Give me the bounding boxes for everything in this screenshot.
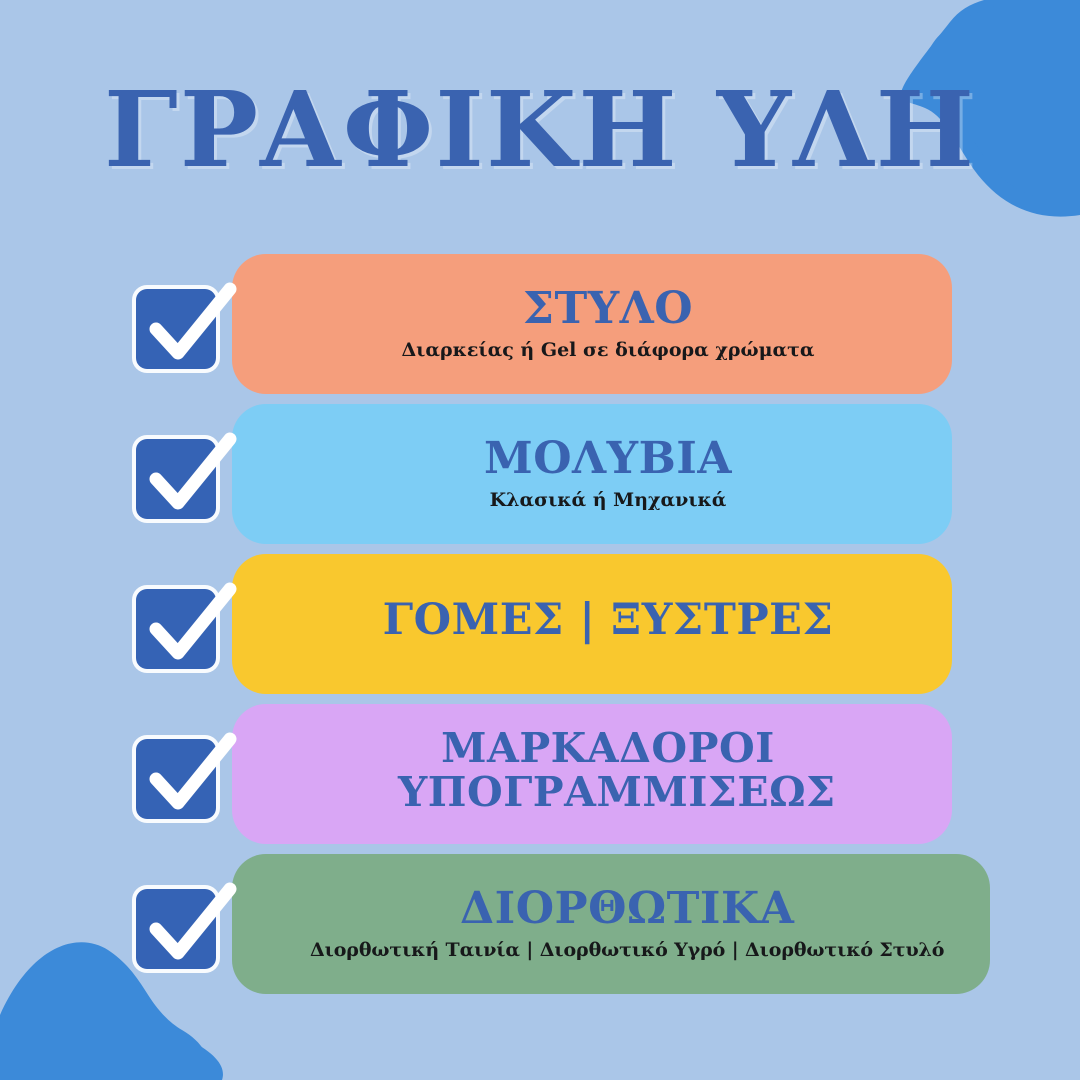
item-card-0[interactable]: ΣΤΥΛΟ Διαρκείας ή Gel σε διάφορα χρώματα — [240, 262, 944, 386]
checkbox-1[interactable] — [136, 433, 218, 515]
item-title: ΔΙΟΡΘΩΤΙΚΑ — [460, 887, 794, 932]
checkmark-icon — [134, 267, 246, 379]
item-subtitle: Κλασικά ή Μηχανικά — [490, 489, 727, 512]
item-card-1[interactable]: ΜΟΛΥΒΙΑ Κλασικά ή Μηχανικά — [240, 412, 944, 536]
page-title: ΓΡΑΦΙΚΗ ΥΛΗ — [0, 78, 1080, 182]
checkmark-icon — [134, 417, 246, 529]
checkbox-0[interactable] — [136, 283, 218, 365]
item-title: ΜΑΡΚΑΔΟΡΟΙ ΥΠΟΓΡΑΜΜΙΣΕΩΣ — [398, 727, 818, 815]
list-item[interactable]: ΣΤΥΛΟ Διαρκείας ή Gel σε διάφορα χρώματα — [0, 249, 1080, 399]
list-item[interactable]: ΔΙΟΡΘΩΤΙΚΑ Διορθωτική Ταινία | Διορθωτικ… — [0, 849, 1080, 999]
page-title-container: ΓΡΑΦΙΚΗ ΥΛΗ — [0, 78, 1080, 182]
checklist: ΣΤΥΛΟ Διαρκείας ή Gel σε διάφορα χρώματα… — [0, 249, 1080, 999]
checkmark-icon — [134, 567, 246, 679]
item-card-2[interactable]: ΓΟΜΕΣ | ΞΥΣΤΡΕΣ — [240, 562, 944, 686]
checkmark-icon — [134, 867, 246, 979]
item-card-3[interactable]: ΜΑΡΚΑΔΟΡΟΙ ΥΠΟΓΡΑΜΜΙΣΕΩΣ — [240, 712, 944, 836]
item-card-4[interactable]: ΔΙΟΡΘΩΤΙΚΑ Διορθωτική Ταινία | Διορθωτικ… — [240, 862, 982, 986]
list-item[interactable]: ΜΟΛΥΒΙΑ Κλασικά ή Μηχανικά — [0, 399, 1080, 549]
checkmark-icon — [134, 717, 246, 829]
list-item[interactable]: ΜΑΡΚΑΔΟΡΟΙ ΥΠΟΓΡΑΜΜΙΣΕΩΣ — [0, 699, 1080, 849]
item-title: ΣΤΥΛΟ — [523, 287, 693, 332]
checkbox-3[interactable] — [136, 733, 218, 815]
item-subtitle: Διαρκείας ή Gel σε διάφορα χρώματα — [401, 339, 814, 362]
item-title: ΓΟΜΕΣ | ΞΥΣΤΡΕΣ — [383, 599, 834, 643]
list-item[interactable]: ΓΟΜΕΣ | ΞΥΣΤΡΕΣ — [0, 549, 1080, 699]
item-subtitle: Διορθωτική Ταινία | Διορθωτικό Υγρό | Δι… — [310, 939, 944, 962]
item-title: ΜΟΛΥΒΙΑ — [484, 437, 732, 482]
poster-canvas: { "background_color": "#AAC6E8", "accent… — [0, 0, 1080, 1080]
checkbox-2[interactable] — [136, 583, 218, 665]
checkbox-4[interactable] — [136, 883, 218, 965]
